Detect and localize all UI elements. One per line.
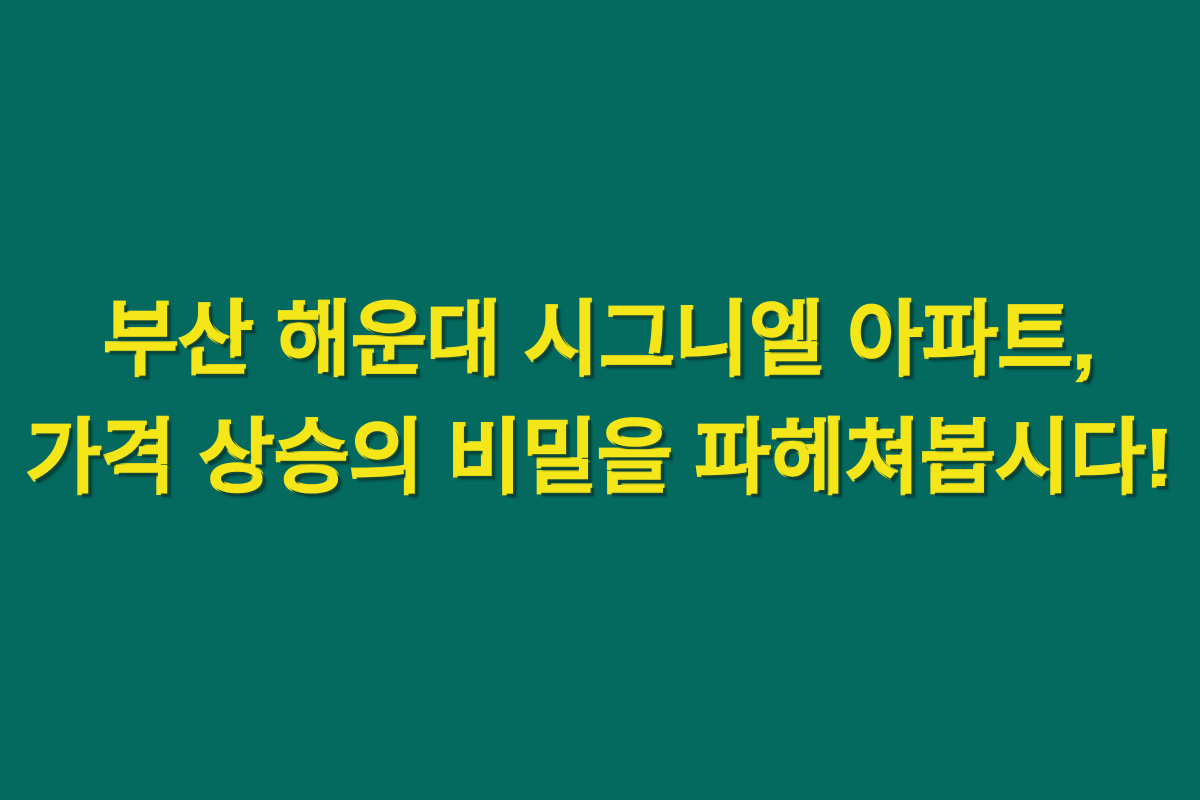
headline-line-2: 가격 상승의 비밀을 파헤쳐봅시다! bbox=[24, 409, 1176, 509]
headline-block: 부산 해운대 시그니엘 아파트, 가격 상승의 비밀을 파헤쳐봅시다! bbox=[0, 291, 1200, 509]
banner-canvas: 부산 해운대 시그니엘 아파트, 가격 상승의 비밀을 파헤쳐봅시다! bbox=[0, 0, 1200, 800]
headline-line-1: 부산 해운대 시그니엘 아파트, bbox=[24, 291, 1176, 391]
